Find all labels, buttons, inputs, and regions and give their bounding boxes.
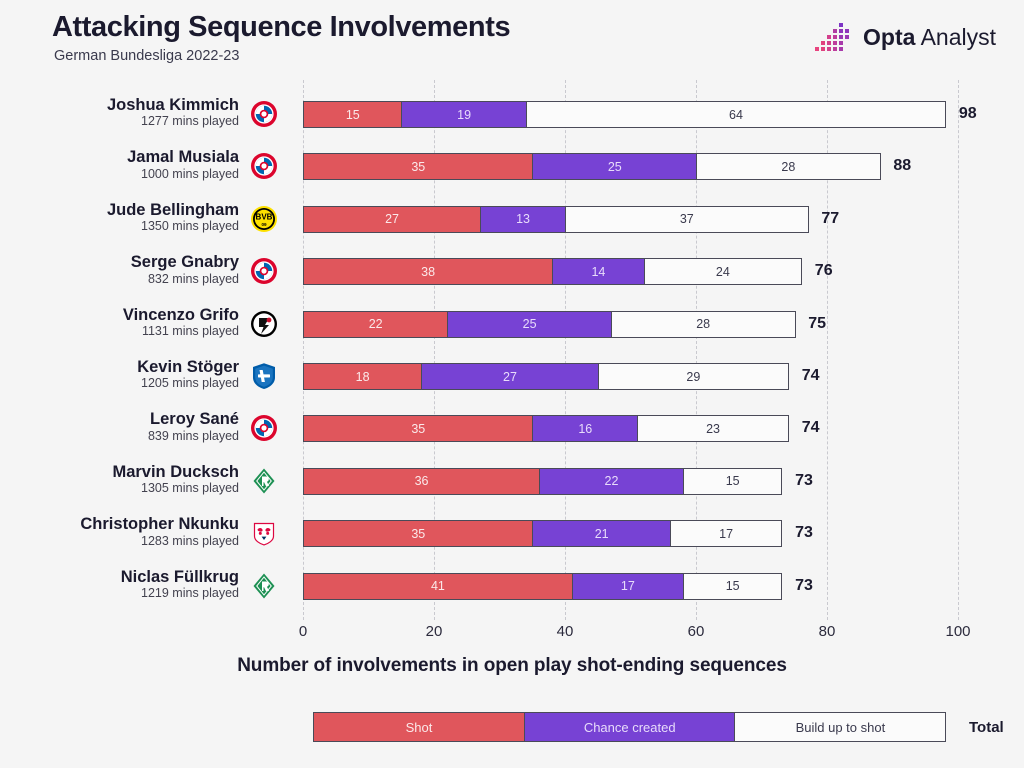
row-total: 77 (821, 210, 839, 228)
bar-segment-chance-created[interactable]: 17 (572, 573, 685, 600)
opta-analyst-logo: Opta Analyst (814, 20, 996, 54)
bar-segment-build-up[interactable]: 24 (644, 258, 803, 285)
player-name: Leroy Sané (0, 410, 239, 428)
x-tick-label: 0 (299, 623, 307, 640)
row-total: 73 (795, 577, 813, 595)
bar-segment-chance-created[interactable]: 16 (532, 415, 638, 442)
club-badge-bochum-icon (250, 362, 278, 390)
bar-segment-build-up[interactable]: 17 (670, 520, 783, 547)
x-axis-title: Number of involvements in open play shot… (0, 655, 1024, 677)
stacked-bar[interactable]: 381424 (303, 258, 802, 285)
bar-chart-plot: Joshua Kimmich1277 mins played15196498Ja… (0, 78, 1024, 623)
player-name: Christopher Nkunku (0, 515, 239, 533)
legend-item-total: Total (969, 712, 1004, 742)
legend-item-shot[interactable]: Shot (313, 712, 525, 742)
chart-legend: Shot Chance created Build up to shot (313, 712, 946, 742)
logo-word-analyst: Analyst (921, 24, 996, 50)
bar-segment-shot[interactable]: 15 (303, 101, 403, 128)
bar-row[interactable]: Christopher Nkunku1283 mins played352117… (0, 513, 1024, 565)
bar-segment-shot[interactable]: 35 (303, 153, 534, 180)
bar-row[interactable]: Leroy Sané839 mins played35162374 (0, 408, 1024, 460)
player-label: Jamal Musiala1000 mins played (0, 148, 239, 182)
bar-segment-chance-created[interactable]: 19 (401, 101, 527, 128)
row-total: 74 (802, 419, 820, 437)
player-label: Niclas Füllkrug1219 mins played (0, 568, 239, 602)
club-badge-werder-icon (250, 572, 278, 600)
bar-segment-chance-created[interactable]: 14 (552, 258, 645, 285)
bar-row[interactable]: Kevin Stöger1205 mins played18272974 (0, 356, 1024, 408)
x-axis: 020406080100 (0, 615, 1024, 655)
page-title: Attacking Sequence Involvements (52, 11, 510, 44)
player-name: Kevin Stöger (0, 358, 239, 376)
club-badge-bayern-icon (250, 152, 278, 180)
legend-item-chance[interactable]: Chance created (524, 712, 736, 742)
bar-row[interactable]: Marvin Ducksch1305 mins played36221573 (0, 461, 1024, 513)
bar-segment-build-up[interactable]: 64 (526, 101, 947, 128)
player-minutes: 1131 mins played (0, 324, 239, 340)
bar-segment-shot[interactable]: 22 (303, 311, 448, 338)
bar-segment-chance-created[interactable]: 22 (539, 468, 684, 495)
player-minutes: 1305 mins played (0, 481, 239, 497)
row-total: 76 (815, 262, 833, 280)
row-total: 98 (959, 105, 977, 123)
player-name: Marvin Ducksch (0, 463, 239, 481)
bar-segment-shot[interactable]: 36 (303, 468, 540, 495)
club-badge-leipzig-icon (250, 519, 278, 547)
bar-segment-shot[interactable]: 35 (303, 415, 534, 442)
player-label: Christopher Nkunku1283 mins played (0, 515, 239, 549)
opta-logo-mark (814, 22, 854, 52)
legend-item-buildup[interactable]: Build up to shot (734, 712, 946, 742)
stacked-bar[interactable]: 362215 (303, 468, 782, 495)
player-name: Joshua Kimmich (0, 96, 239, 114)
x-tick-label: 60 (688, 623, 705, 640)
bar-segment-chance-created[interactable]: 13 (480, 206, 566, 233)
stacked-bar[interactable]: 351623 (303, 415, 789, 442)
stacked-bar[interactable]: 182729 (303, 363, 789, 390)
bar-segment-build-up[interactable]: 37 (565, 206, 809, 233)
bar-segment-build-up[interactable]: 28 (611, 311, 796, 338)
player-label: Marvin Ducksch1305 mins played (0, 463, 239, 497)
club-badge-bayern-icon (250, 100, 278, 128)
bar-segment-shot[interactable]: 18 (303, 363, 422, 390)
row-total: 73 (795, 524, 813, 542)
player-name: Jamal Musiala (0, 148, 239, 166)
player-name: Jude Bellingham (0, 201, 239, 219)
opta-logo-text: Opta Analyst (863, 26, 996, 49)
player-label: Kevin Stöger1205 mins played (0, 358, 239, 392)
stacked-bar[interactable]: 352528 (303, 153, 881, 180)
player-minutes: 1219 mins played (0, 586, 239, 602)
bar-row[interactable]: Jude Bellingham1350 mins playedBVB092713… (0, 199, 1024, 251)
svg-text:09: 09 (261, 222, 267, 227)
bar-segment-shot[interactable]: 41 (303, 573, 573, 600)
logo-word-opta: Opta (863, 24, 915, 50)
player-minutes: 1350 mins played (0, 219, 239, 235)
bar-segment-shot[interactable]: 27 (303, 206, 481, 233)
player-minutes: 1277 mins played (0, 114, 239, 130)
bar-row[interactable]: Niclas Füllkrug1219 mins played41171573 (0, 566, 1024, 618)
stacked-bar[interactable]: 271337 (303, 206, 809, 233)
player-minutes: 839 mins played (0, 429, 239, 445)
x-tick-label: 40 (557, 623, 574, 640)
player-label: Vincenzo Grifo1131 mins played (0, 306, 239, 340)
player-label: Jude Bellingham1350 mins played (0, 201, 239, 235)
bar-row[interactable]: Jamal Musiala1000 mins played35252888 (0, 146, 1024, 198)
bar-segment-build-up[interactable]: 15 (683, 468, 783, 495)
player-minutes: 1283 mins played (0, 534, 239, 550)
row-total: 88 (893, 157, 911, 175)
bar-segment-build-up[interactable]: 23 (637, 415, 789, 442)
bar-row[interactable]: Joshua Kimmich1277 mins played15196498 (0, 94, 1024, 146)
chart-header: Attacking Sequence Involvements German B… (0, 0, 1024, 78)
bar-row[interactable]: Serge Gnabry832 mins played38142476 (0, 251, 1024, 303)
club-badge-bayern-icon (250, 414, 278, 442)
player-minutes: 1000 mins played (0, 167, 239, 183)
bar-segment-shot[interactable]: 38 (303, 258, 553, 285)
stacked-bar[interactable]: 352117 (303, 520, 782, 547)
bar-segment-build-up[interactable]: 15 (683, 573, 783, 600)
bar-segment-chance-created[interactable]: 21 (532, 520, 671, 547)
page-subtitle: German Bundesliga 2022-23 (54, 48, 239, 64)
svg-text:BVB: BVB (256, 212, 273, 221)
bar-row[interactable]: Vincenzo Grifo1131 mins played22252875 (0, 304, 1024, 356)
player-name: Niclas Füllkrug (0, 568, 239, 586)
club-badge-bvb-icon: BVB09 (250, 205, 278, 233)
x-tick-label: 20 (426, 623, 443, 640)
player-label: Serge Gnabry832 mins played (0, 253, 239, 287)
stacked-bar[interactable]: 222528 (303, 311, 796, 338)
stacked-bar[interactable]: 411715 (303, 573, 782, 600)
bar-segment-build-up[interactable]: 28 (696, 153, 881, 180)
player-minutes: 1205 mins played (0, 376, 239, 392)
player-name: Serge Gnabry (0, 253, 239, 271)
club-badge-freiburg-icon (250, 310, 278, 338)
bar-segment-chance-created[interactable]: 27 (421, 363, 599, 390)
x-tick-label: 100 (945, 623, 970, 640)
row-total: 74 (802, 367, 820, 385)
row-total: 75 (808, 315, 826, 333)
row-total: 73 (795, 472, 813, 490)
player-label: Leroy Sané839 mins played (0, 410, 239, 444)
bar-segment-chance-created[interactable]: 25 (447, 311, 612, 338)
bar-segment-shot[interactable]: 35 (303, 520, 534, 547)
player-label: Joshua Kimmich1277 mins played (0, 96, 239, 130)
stacked-bar[interactable]: 151964 (303, 101, 946, 128)
bar-segment-chance-created[interactable]: 25 (532, 153, 697, 180)
player-minutes: 832 mins played (0, 272, 239, 288)
club-badge-bayern-icon (250, 257, 278, 285)
club-badge-werder-icon (250, 467, 278, 495)
player-name: Vincenzo Grifo (0, 306, 239, 324)
bar-segment-build-up[interactable]: 29 (598, 363, 789, 390)
x-tick-label: 80 (819, 623, 836, 640)
